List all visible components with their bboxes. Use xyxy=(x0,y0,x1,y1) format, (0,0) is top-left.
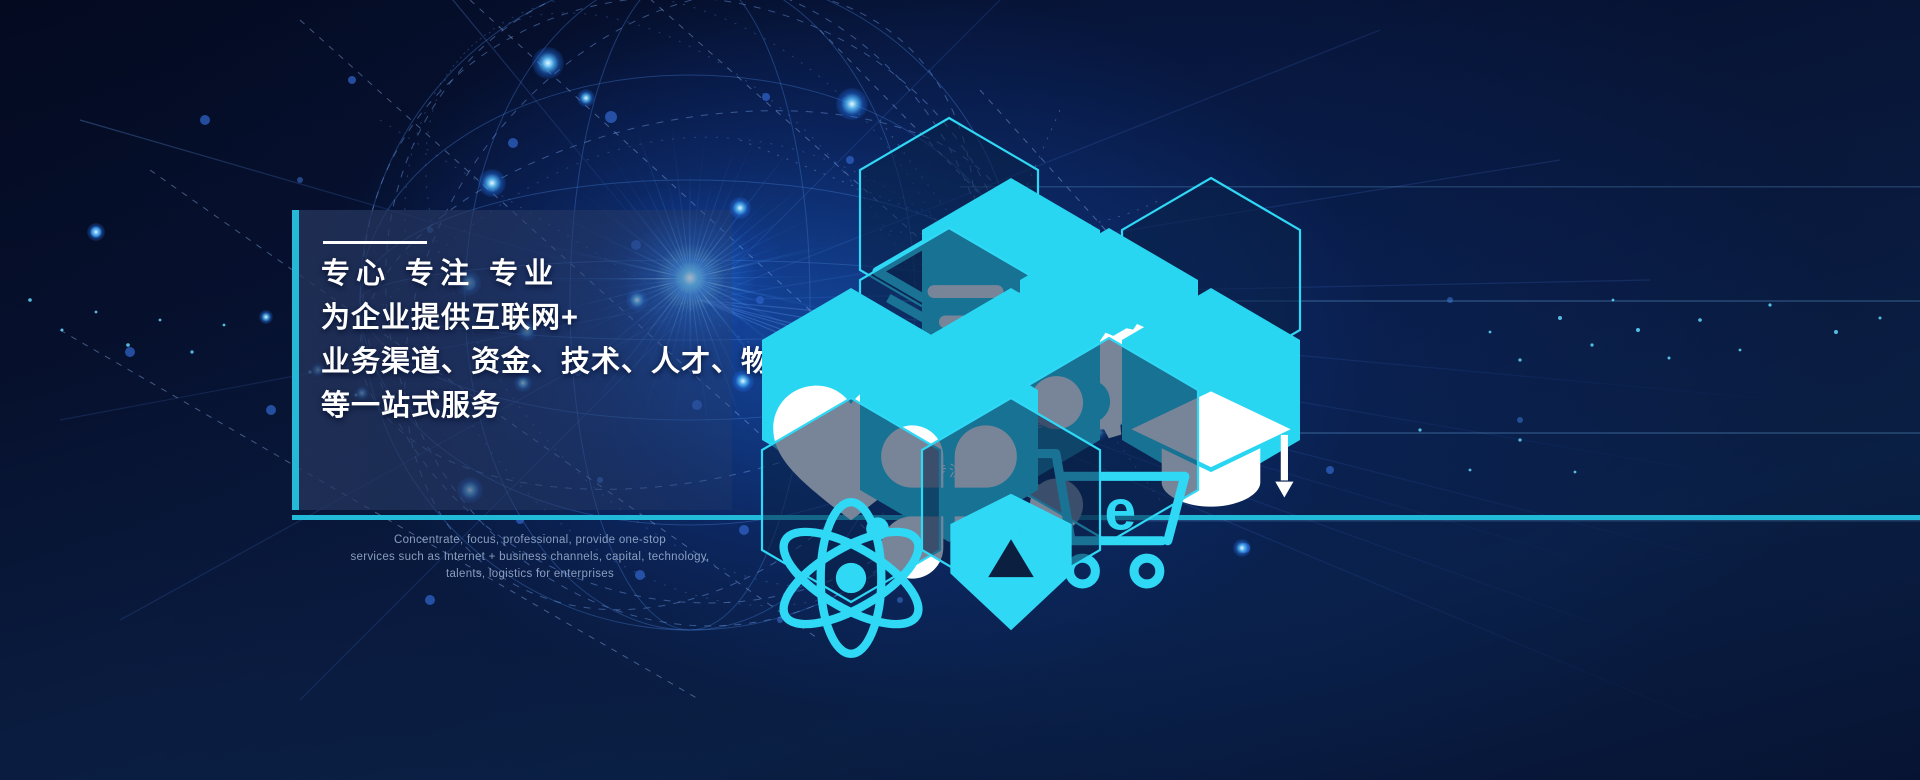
hexagon-cluster: 资金物流技术人才专心业务渠道e专注专业 xyxy=(0,0,1920,780)
hexagon-label: 专业 xyxy=(920,520,1102,541)
svg-text:e: e xyxy=(1105,479,1137,542)
hexagon-atom[interactable] xyxy=(760,396,942,604)
hexagon-zhuanye[interactable]: 专业 xyxy=(920,396,1102,604)
banner-stage: 专心 专注 专业 为企业提供互联网+ 业务渠道、资金、技术、人才、物流 等一站式… xyxy=(0,0,1920,780)
